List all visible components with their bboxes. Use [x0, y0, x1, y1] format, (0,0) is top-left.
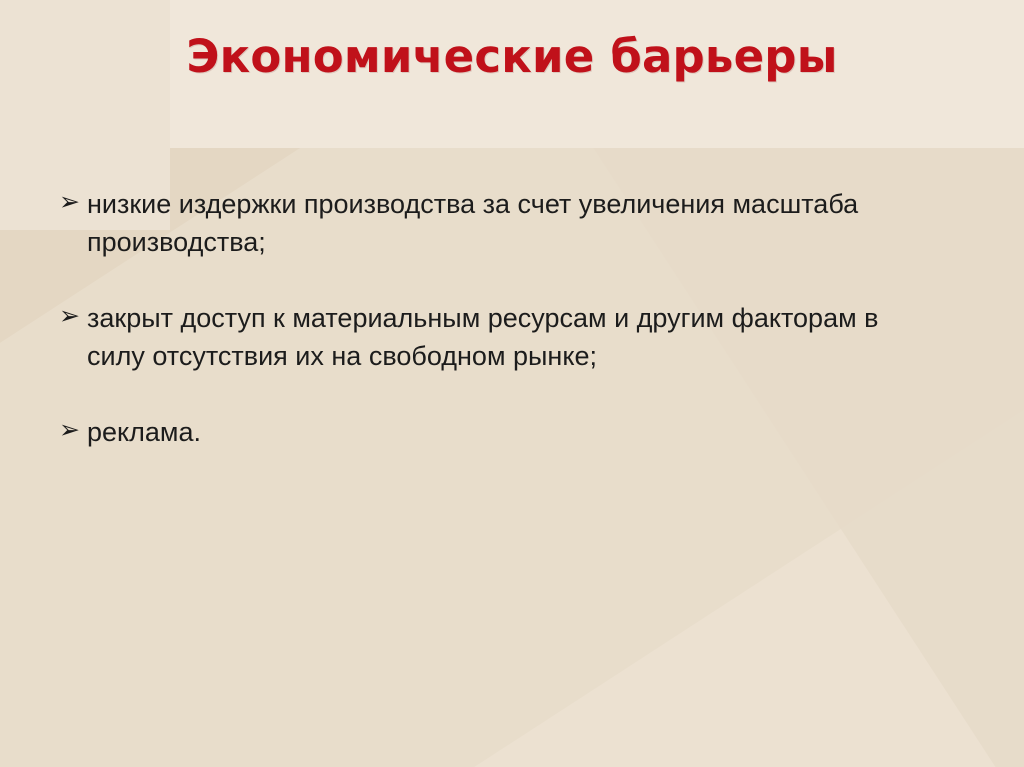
arrow-bullet-icon: ➢ — [55, 185, 87, 219]
bullet-text: реклама. — [87, 413, 587, 451]
bullet-text: низкие издержки производства за счет уве… — [87, 185, 927, 261]
list-item: ➢ реклама. — [55, 413, 955, 451]
arrow-bullet-icon: ➢ — [55, 299, 87, 333]
slide-title: Экономические барьеры — [0, 30, 1024, 83]
presentation-slide: Экономические барьеры ➢ низкие издержки … — [0, 0, 1024, 767]
list-item: ➢ закрыт доступ к материальным ресурсам … — [55, 299, 955, 375]
bullet-list: ➢ низкие издержки производства за счет у… — [55, 185, 955, 489]
bullet-text: закрыт доступ к материальным ресурсам и … — [87, 299, 927, 375]
arrow-bullet-icon: ➢ — [55, 413, 87, 447]
list-item: ➢ низкие издержки производства за счет у… — [55, 185, 955, 261]
slide-content: Экономические барьеры ➢ низкие издержки … — [0, 0, 1024, 767]
